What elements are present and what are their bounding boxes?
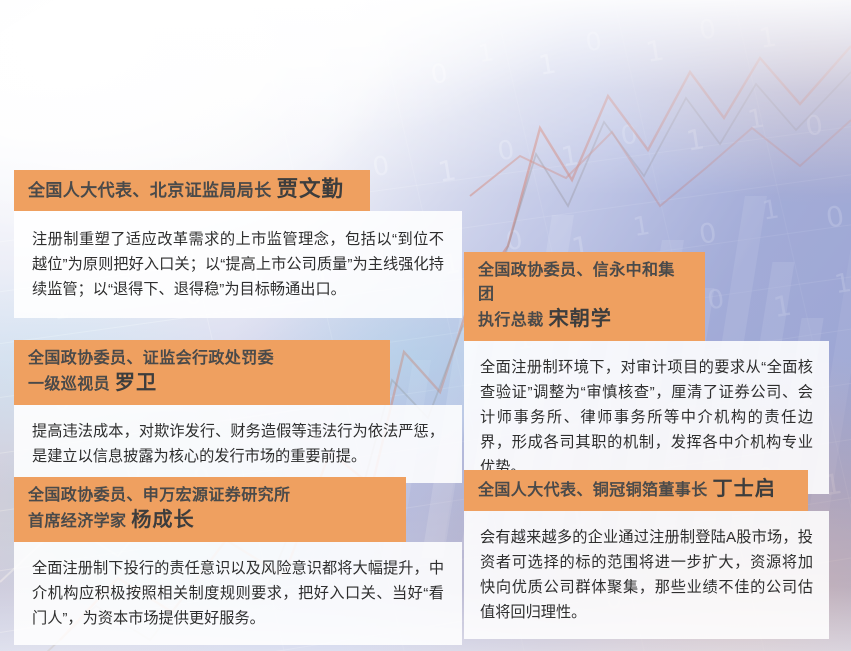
- quote-card-header-yang: 全国政协委员、申万宏源证券研究所 首席经济学家 杨成长: [14, 477, 406, 542]
- quote-card-jia: 全国人大代表、北京证监局局长 贾文勤 注册制重塑了适应改革需求的上市监管理念，包…: [14, 170, 462, 318]
- quote-title-ding: 全国人大代表、铜冠铜箔董事长: [478, 482, 712, 499]
- quote-card-song: 全国政协委员、信永中和集团 执行总裁 宋朝学 全面注册制环境下，对审计项目的要求…: [464, 252, 829, 494]
- quote-name-song: 宋朝学: [548, 308, 611, 330]
- quote-title-jia: 全国人大代表、北京证监局局长: [28, 181, 277, 200]
- quote-card-header-ding: 全国人大代表、铜冠铜箔董事长 丁士启: [464, 470, 808, 511]
- quote-card-header-song: 全国政协委员、信永中和集团 执行总裁 宋朝学: [464, 252, 705, 341]
- infographic-canvas: 0 1 1 0 1 0 1 0 1 1 0 1 0 1 0 1 1 0 1 0 …: [0, 0, 851, 651]
- quote-text-luo: 提高违法成本，对欺诈发行、财务造假等违法行为依法严惩，是建立以信息披露为核心的发…: [32, 419, 444, 469]
- quote-text-jia: 注册制重塑了适应改革需求的上市监管理念，包括以“到位不越位”为原则把好入口关；以…: [32, 227, 444, 302]
- quote-card-ding: 全国人大代表、铜冠铜箔董事长 丁士启 会有越来越多的企业通过注册制登陆A股市场，…: [464, 470, 829, 639]
- quote-card-yang: 全国政协委员、申万宏源证券研究所 首席经济学家 杨成长 全面注册制下投行的责任意…: [14, 477, 462, 645]
- quote-text-song: 全面注册制环境下，对审计项目的要求从“全面核查验证”调整为“审慎核查”，厘清了证…: [480, 355, 813, 480]
- quote-name-yang: 杨成长: [131, 509, 194, 531]
- quote-card-luo: 全国政协委员、证监会行政处罚委 一级巡视员 罗卫 提高违法成本，对欺诈发行、财务…: [14, 340, 462, 483]
- quote-name-ding: 丁士启: [712, 478, 775, 500]
- quote-card-header-jia: 全国人大代表、北京证监局局长 贾文勤: [14, 170, 370, 211]
- quote-text-ding: 会有越来越多的企业通过注册制登陆A股市场，投资者可选择的标的范围将进一步扩大，资…: [480, 525, 813, 625]
- quote-card-body-jia: 注册制重塑了适应改革需求的上市监管理念，包括以“到位不越位”为原则把好入口关；以…: [14, 211, 462, 318]
- quote-card-body-luo: 提高违法成本，对欺诈发行、财务造假等违法行为依法严惩，是建立以信息披露为核心的发…: [14, 405, 462, 483]
- quote-card-body-ding: 会有越来越多的企业通过注册制登陆A股市场，投资者可选择的标的范围将进一步扩大，资…: [464, 511, 829, 639]
- quote-card-header-luo: 全国政协委员、证监会行政处罚委 一级巡视员 罗卫: [14, 340, 390, 405]
- quote-card-body-yang: 全面注册制下投行的责任意识以及风险意识都将大幅提升，中介机构应积极按照相关制度规…: [14, 542, 462, 645]
- quote-text-yang: 全面注册制下投行的责任意识以及风险意识都将大幅提升，中介机构应积极按照相关制度规…: [32, 556, 444, 631]
- quote-name-luo: 罗卫: [115, 372, 157, 394]
- quote-name-jia: 贾文勤: [277, 177, 344, 201]
